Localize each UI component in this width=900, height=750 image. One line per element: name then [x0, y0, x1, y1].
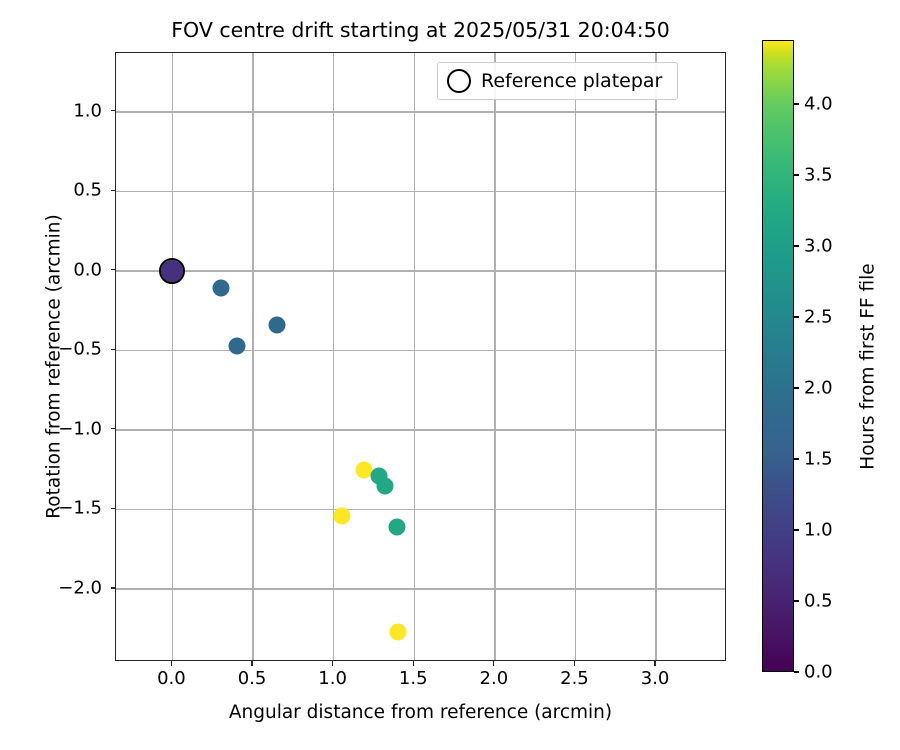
x-tick-mark [413, 661, 414, 666]
colorbar-tick-mark [794, 245, 799, 246]
x-tick-mark [332, 661, 333, 666]
colorbar-tick-mark [794, 529, 799, 530]
x-tick-mark [574, 661, 575, 666]
colorbar-tick-label: 3.5 [804, 164, 833, 185]
gridline-vertical [575, 53, 576, 660]
legend-item-label: Reference platepar [481, 70, 666, 92]
colorbar-tick-mark [794, 316, 799, 317]
y-tick-label: 1.0 [0, 100, 102, 121]
data-point [269, 316, 286, 333]
y-tick-mark [111, 428, 116, 429]
colorbar-tick-label: 2.5 [804, 306, 833, 327]
data-point [228, 337, 245, 354]
colorbar-tick-label: 4.0 [804, 93, 833, 114]
colorbar-tick-label: 3.0 [804, 235, 833, 256]
x-tick-label: 1.0 [318, 668, 347, 689]
y-tick-mark [111, 508, 116, 509]
gridline-vertical [333, 53, 334, 660]
colorbar-tick-mark [794, 387, 799, 388]
x-tick-mark [654, 661, 655, 666]
gridline-vertical [414, 53, 415, 660]
gridline-horizontal [116, 111, 725, 112]
colorbar-tick-label: 0.5 [804, 590, 833, 611]
gridline-horizontal [116, 350, 725, 351]
x-tick-label: 1.5 [399, 668, 428, 689]
x-tick-label: 2.0 [480, 668, 509, 689]
data-point [377, 477, 394, 494]
colorbar-tick-mark [794, 671, 799, 672]
plot-area[interactable] [115, 52, 726, 661]
data-point [388, 518, 405, 535]
y-tick-mark [111, 269, 116, 270]
reference-platepar-marker-icon [447, 69, 471, 93]
data-point [212, 280, 229, 297]
gridline-horizontal [116, 429, 725, 430]
y-tick-mark [111, 190, 116, 191]
data-point [390, 623, 407, 640]
x-tick-mark [171, 661, 172, 666]
gridline-vertical [172, 53, 173, 660]
x-tick-mark [251, 661, 252, 666]
colorbar-label: Hours from first FF file [858, 157, 879, 577]
colorbar-tick-label: 1.0 [804, 519, 833, 540]
colorbar-tick-mark [794, 103, 799, 104]
gridline-vertical [494, 53, 495, 660]
y-tick-mark [111, 587, 116, 588]
x-axis-label: Angular distance from reference (arcmin) [115, 702, 726, 723]
y-tick-label: −2.0 [0, 577, 102, 598]
page-title: FOV centre drift starting at 2025/05/31 … [115, 18, 726, 42]
colorbar-gradient [762, 40, 794, 672]
colorbar-tick-label: 2.0 [804, 377, 833, 398]
x-tick-label: 3.0 [641, 668, 670, 689]
colorbar-tick-label: 1.5 [804, 448, 833, 469]
gridline-vertical [655, 53, 656, 660]
x-tick-label: 0.0 [157, 668, 186, 689]
gridline-horizontal [116, 588, 725, 589]
y-axis-label: Rotation from reference (arcmin) [44, 167, 65, 567]
x-tick-label: 2.5 [560, 668, 589, 689]
y-tick-mark [111, 349, 116, 350]
reference-platepar-point [159, 258, 185, 284]
x-tick-mark [493, 661, 494, 666]
gridline-vertical [252, 53, 253, 660]
colorbar-tick-mark [794, 458, 799, 459]
y-tick-mark [111, 110, 116, 111]
gridline-horizontal [116, 191, 725, 192]
colorbar-tick-label: 0.0 [804, 662, 833, 683]
data-point [333, 507, 350, 524]
x-tick-label: 0.5 [238, 668, 267, 689]
legend[interactable]: Reference platepar [437, 62, 678, 100]
figure: FOV centre drift starting at 2025/05/31 … [0, 0, 900, 750]
gridline-horizontal [116, 270, 725, 271]
gridline-horizontal [116, 509, 725, 510]
colorbar-tick-mark [794, 600, 799, 601]
colorbar-tick-mark [794, 174, 799, 175]
